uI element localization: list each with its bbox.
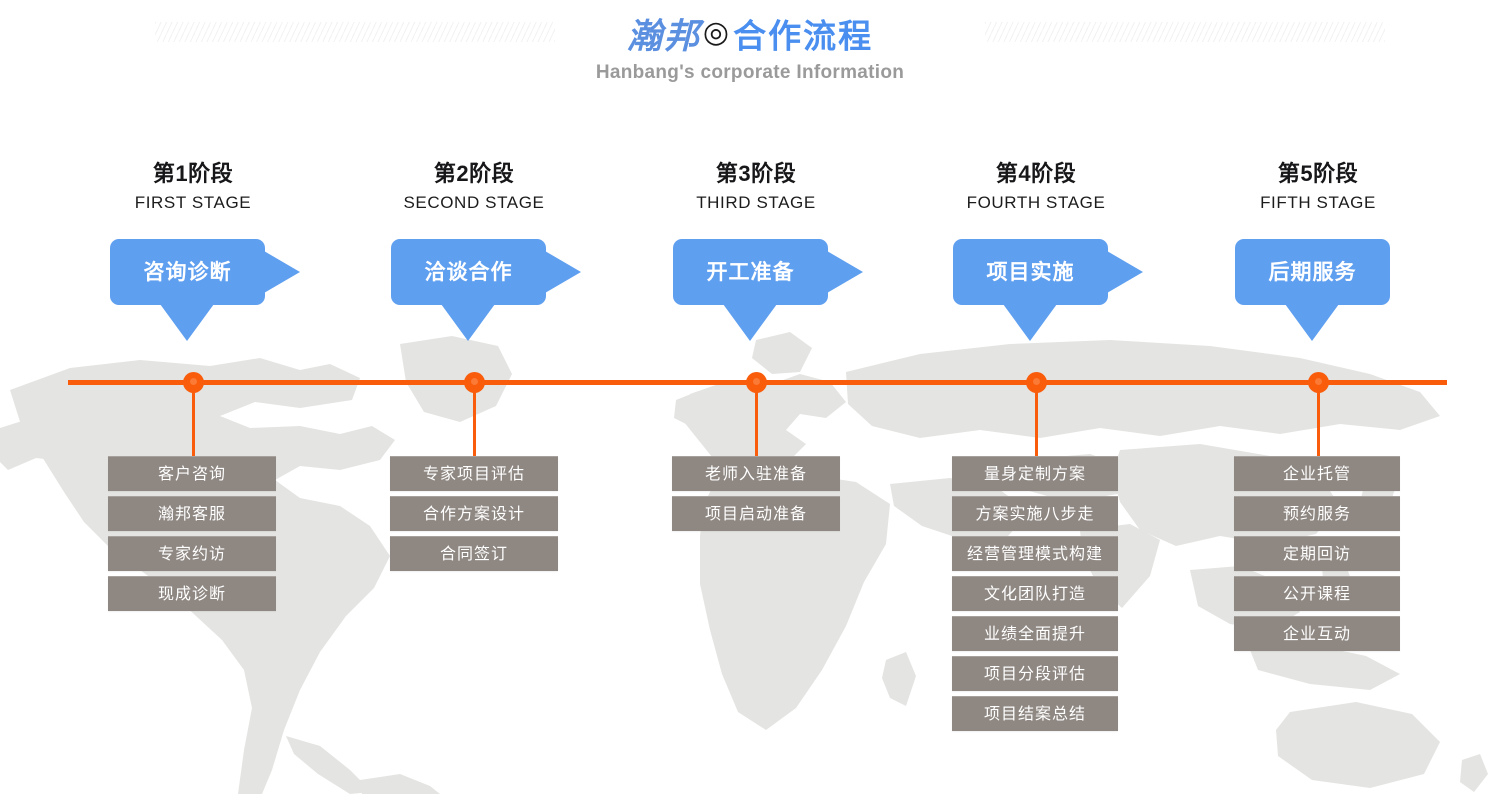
stage-index-cn: 第2阶段 [384, 160, 564, 188]
title-main: 合作流程 [733, 18, 873, 55]
process-flow-infographic: 瀚邦◎合作流程 Hanbang's corporate Information … [0, 0, 1500, 795]
stage-item-list-2: 专家项目评估合作方案设计合同签订 [390, 456, 558, 571]
stage-bubble-label: 开工准备 [673, 256, 828, 286]
stage-heading-1: 第1阶段FIRST STAGE [103, 160, 283, 215]
bubble-tail-triangle [441, 304, 495, 341]
timeline-node-4[interactable] [1026, 372, 1047, 393]
bubble-tail-triangle [160, 304, 214, 341]
stage-item[interactable]: 瀚邦客服 [108, 496, 276, 531]
stage-item[interactable]: 文化团队打造 [952, 576, 1118, 611]
timeline-drop-line-1 [192, 382, 195, 456]
stage-item[interactable]: 企业托管 [1234, 456, 1400, 491]
stage-item-list-1: 客户咨询瀚邦客服专家约访现成诊断 [108, 456, 276, 611]
page-title: 瀚邦◎合作流程 [0, 8, 1500, 59]
stage-item[interactable]: 方案实施八步走 [952, 496, 1118, 531]
stage-heading-4: 第4阶段FOURTH STAGE [946, 160, 1126, 215]
brand-mark-icon: ◎ [703, 16, 729, 49]
bubble-tail-triangle [723, 304, 777, 341]
stage-index-en: THIRD STAGE [666, 191, 846, 215]
bubble-next-arrow-icon [545, 251, 581, 293]
stage-bubble-wrapper-4: 项目实施 [953, 239, 1108, 305]
stage-bubble-label: 项目实施 [953, 256, 1108, 286]
stage-item[interactable]: 项目结案总结 [952, 696, 1118, 731]
stage-bubble-wrapper-2: 洽谈合作 [391, 239, 546, 305]
stage-bubble-3[interactable]: 开工准备 [673, 239, 828, 305]
timeline-node-1[interactable] [183, 372, 204, 393]
timeline-node-5[interactable] [1308, 372, 1329, 393]
bubble-next-arrow-icon [827, 251, 863, 293]
stage-item[interactable]: 现成诊断 [108, 576, 276, 611]
stage-item[interactable]: 合同签订 [390, 536, 558, 571]
stage-item[interactable]: 预约服务 [1234, 496, 1400, 531]
bubble-tail-triangle [1285, 304, 1339, 341]
stage-index-cn: 第4阶段 [946, 160, 1126, 188]
stage-bubble-wrapper-1: 咨询诊断 [110, 239, 265, 305]
stage-item-list-3: 老师入驻准备项目启动准备 [672, 456, 840, 531]
brand-name: 瀚邦 [627, 16, 701, 57]
stage-bubble-label: 洽谈合作 [391, 256, 546, 286]
stage-item[interactable]: 专家约访 [108, 536, 276, 571]
stage-item[interactable]: 公开课程 [1234, 576, 1400, 611]
stage-heading-5: 第5阶段FIFTH STAGE [1228, 160, 1408, 215]
timeline-node-3[interactable] [746, 372, 767, 393]
stage-item[interactable]: 经营管理模式构建 [952, 536, 1118, 571]
stage-item[interactable]: 项目分段评估 [952, 656, 1118, 691]
stage-index-en: FIFTH STAGE [1228, 191, 1408, 215]
stage-item[interactable]: 客户咨询 [108, 456, 276, 491]
stage-item[interactable]: 量身定制方案 [952, 456, 1118, 491]
timeline-drop-line-5 [1317, 382, 1320, 456]
stage-item-list-5: 企业托管预约服务定期回访公开课程企业互动 [1234, 456, 1400, 651]
stage-bubble-label: 咨询诊断 [110, 256, 265, 286]
timeline-drop-line-4 [1035, 382, 1038, 456]
stage-bubble-5[interactable]: 后期服务 [1235, 239, 1390, 305]
stage-heading-2: 第2阶段SECOND STAGE [384, 160, 564, 215]
stage-index-cn: 第1阶段 [103, 160, 283, 188]
stage-index-cn: 第3阶段 [666, 160, 846, 188]
timeline-drop-line-3 [755, 382, 758, 456]
stage-item[interactable]: 项目启动准备 [672, 496, 840, 531]
stage-index-en: SECOND STAGE [384, 191, 564, 215]
stage-heading-3: 第3阶段THIRD STAGE [666, 160, 846, 215]
stage-bubble-2[interactable]: 洽谈合作 [391, 239, 546, 305]
timeline-drop-line-2 [473, 382, 476, 456]
stage-index-en: FOURTH STAGE [946, 191, 1126, 215]
page-subtitle: Hanbang's corporate Information [0, 62, 1500, 84]
stage-index-en: FIRST STAGE [103, 191, 283, 215]
stage-item[interactable]: 定期回访 [1234, 536, 1400, 571]
stage-item[interactable]: 合作方案设计 [390, 496, 558, 531]
bubble-next-arrow-icon [264, 251, 300, 293]
page-header: 瀚邦◎合作流程 Hanbang's corporate Information [0, 0, 1500, 100]
stage-bubble-wrapper-3: 开工准备 [673, 239, 828, 305]
stage-bubble-wrapper-5: 后期服务 [1235, 239, 1390, 305]
timeline-node-2[interactable] [464, 372, 485, 393]
stage-item[interactable]: 专家项目评估 [390, 456, 558, 491]
stage-item[interactable]: 业绩全面提升 [952, 616, 1118, 651]
stage-item[interactable]: 老师入驻准备 [672, 456, 840, 491]
stage-index-cn: 第5阶段 [1228, 160, 1408, 188]
stage-bubble-label: 后期服务 [1235, 256, 1390, 286]
stage-item-list-4: 量身定制方案方案实施八步走经营管理模式构建文化团队打造业绩全面提升项目分段评估项… [952, 456, 1118, 731]
bubble-tail-triangle [1003, 304, 1057, 341]
stage-bubble-1[interactable]: 咨询诊断 [110, 239, 265, 305]
bubble-next-arrow-icon [1107, 251, 1143, 293]
stage-item[interactable]: 企业互动 [1234, 616, 1400, 651]
stage-bubble-4[interactable]: 项目实施 [953, 239, 1108, 305]
